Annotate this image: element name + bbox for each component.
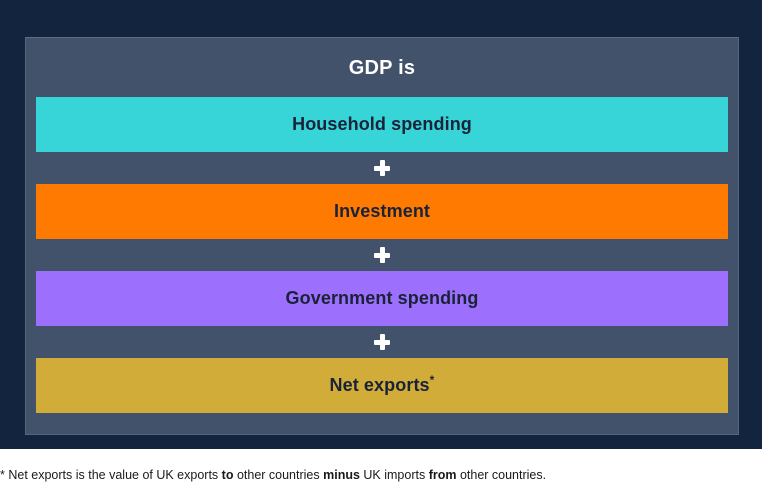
gdp-panel: GDP is Household spending Investment Gov… xyxy=(25,37,739,435)
footnote-area: * Net exports is the value of UK exports… xyxy=(0,449,762,490)
footnote-text: * Net exports is the value of UK exports… xyxy=(0,468,546,482)
gdp-band-household-spending: Household spending xyxy=(36,97,728,152)
operator-row xyxy=(36,152,728,184)
footnote-marker: * xyxy=(430,373,435,387)
gdp-band-label: Household spending xyxy=(292,114,472,135)
gdp-band-net-exports: Net exports* xyxy=(36,358,728,413)
operator-row xyxy=(36,239,728,271)
footnote-part-2: other countries xyxy=(233,468,323,482)
gdp-band-label: Government spending xyxy=(286,288,479,309)
plus-icon xyxy=(374,247,390,263)
footnote-bold-to: to xyxy=(222,468,234,482)
plus-icon xyxy=(374,160,390,176)
plus-icon xyxy=(374,334,390,350)
footnote-part-1: Net exports is the value of UK exports xyxy=(5,468,222,482)
gdp-component-stack: Household spending Investment Government… xyxy=(36,97,728,413)
gdp-band-label-text: Net exports xyxy=(330,375,430,395)
gdp-band-investment: Investment xyxy=(36,184,728,239)
gdp-band-government-spending: Government spending xyxy=(36,271,728,326)
footnote-part-3: UK imports xyxy=(360,468,429,482)
gdp-band-label: Investment xyxy=(334,201,430,222)
footnote-bold-minus: minus xyxy=(323,468,360,482)
footnote-bold-from: from xyxy=(429,468,457,482)
gdp-infographic: GDP is Household spending Investment Gov… xyxy=(0,0,762,449)
gdp-band-label: Net exports* xyxy=(330,375,435,396)
footnote-part-4: other countries. xyxy=(456,468,546,482)
page-title: GDP is xyxy=(26,57,738,80)
operator-row xyxy=(36,326,728,358)
